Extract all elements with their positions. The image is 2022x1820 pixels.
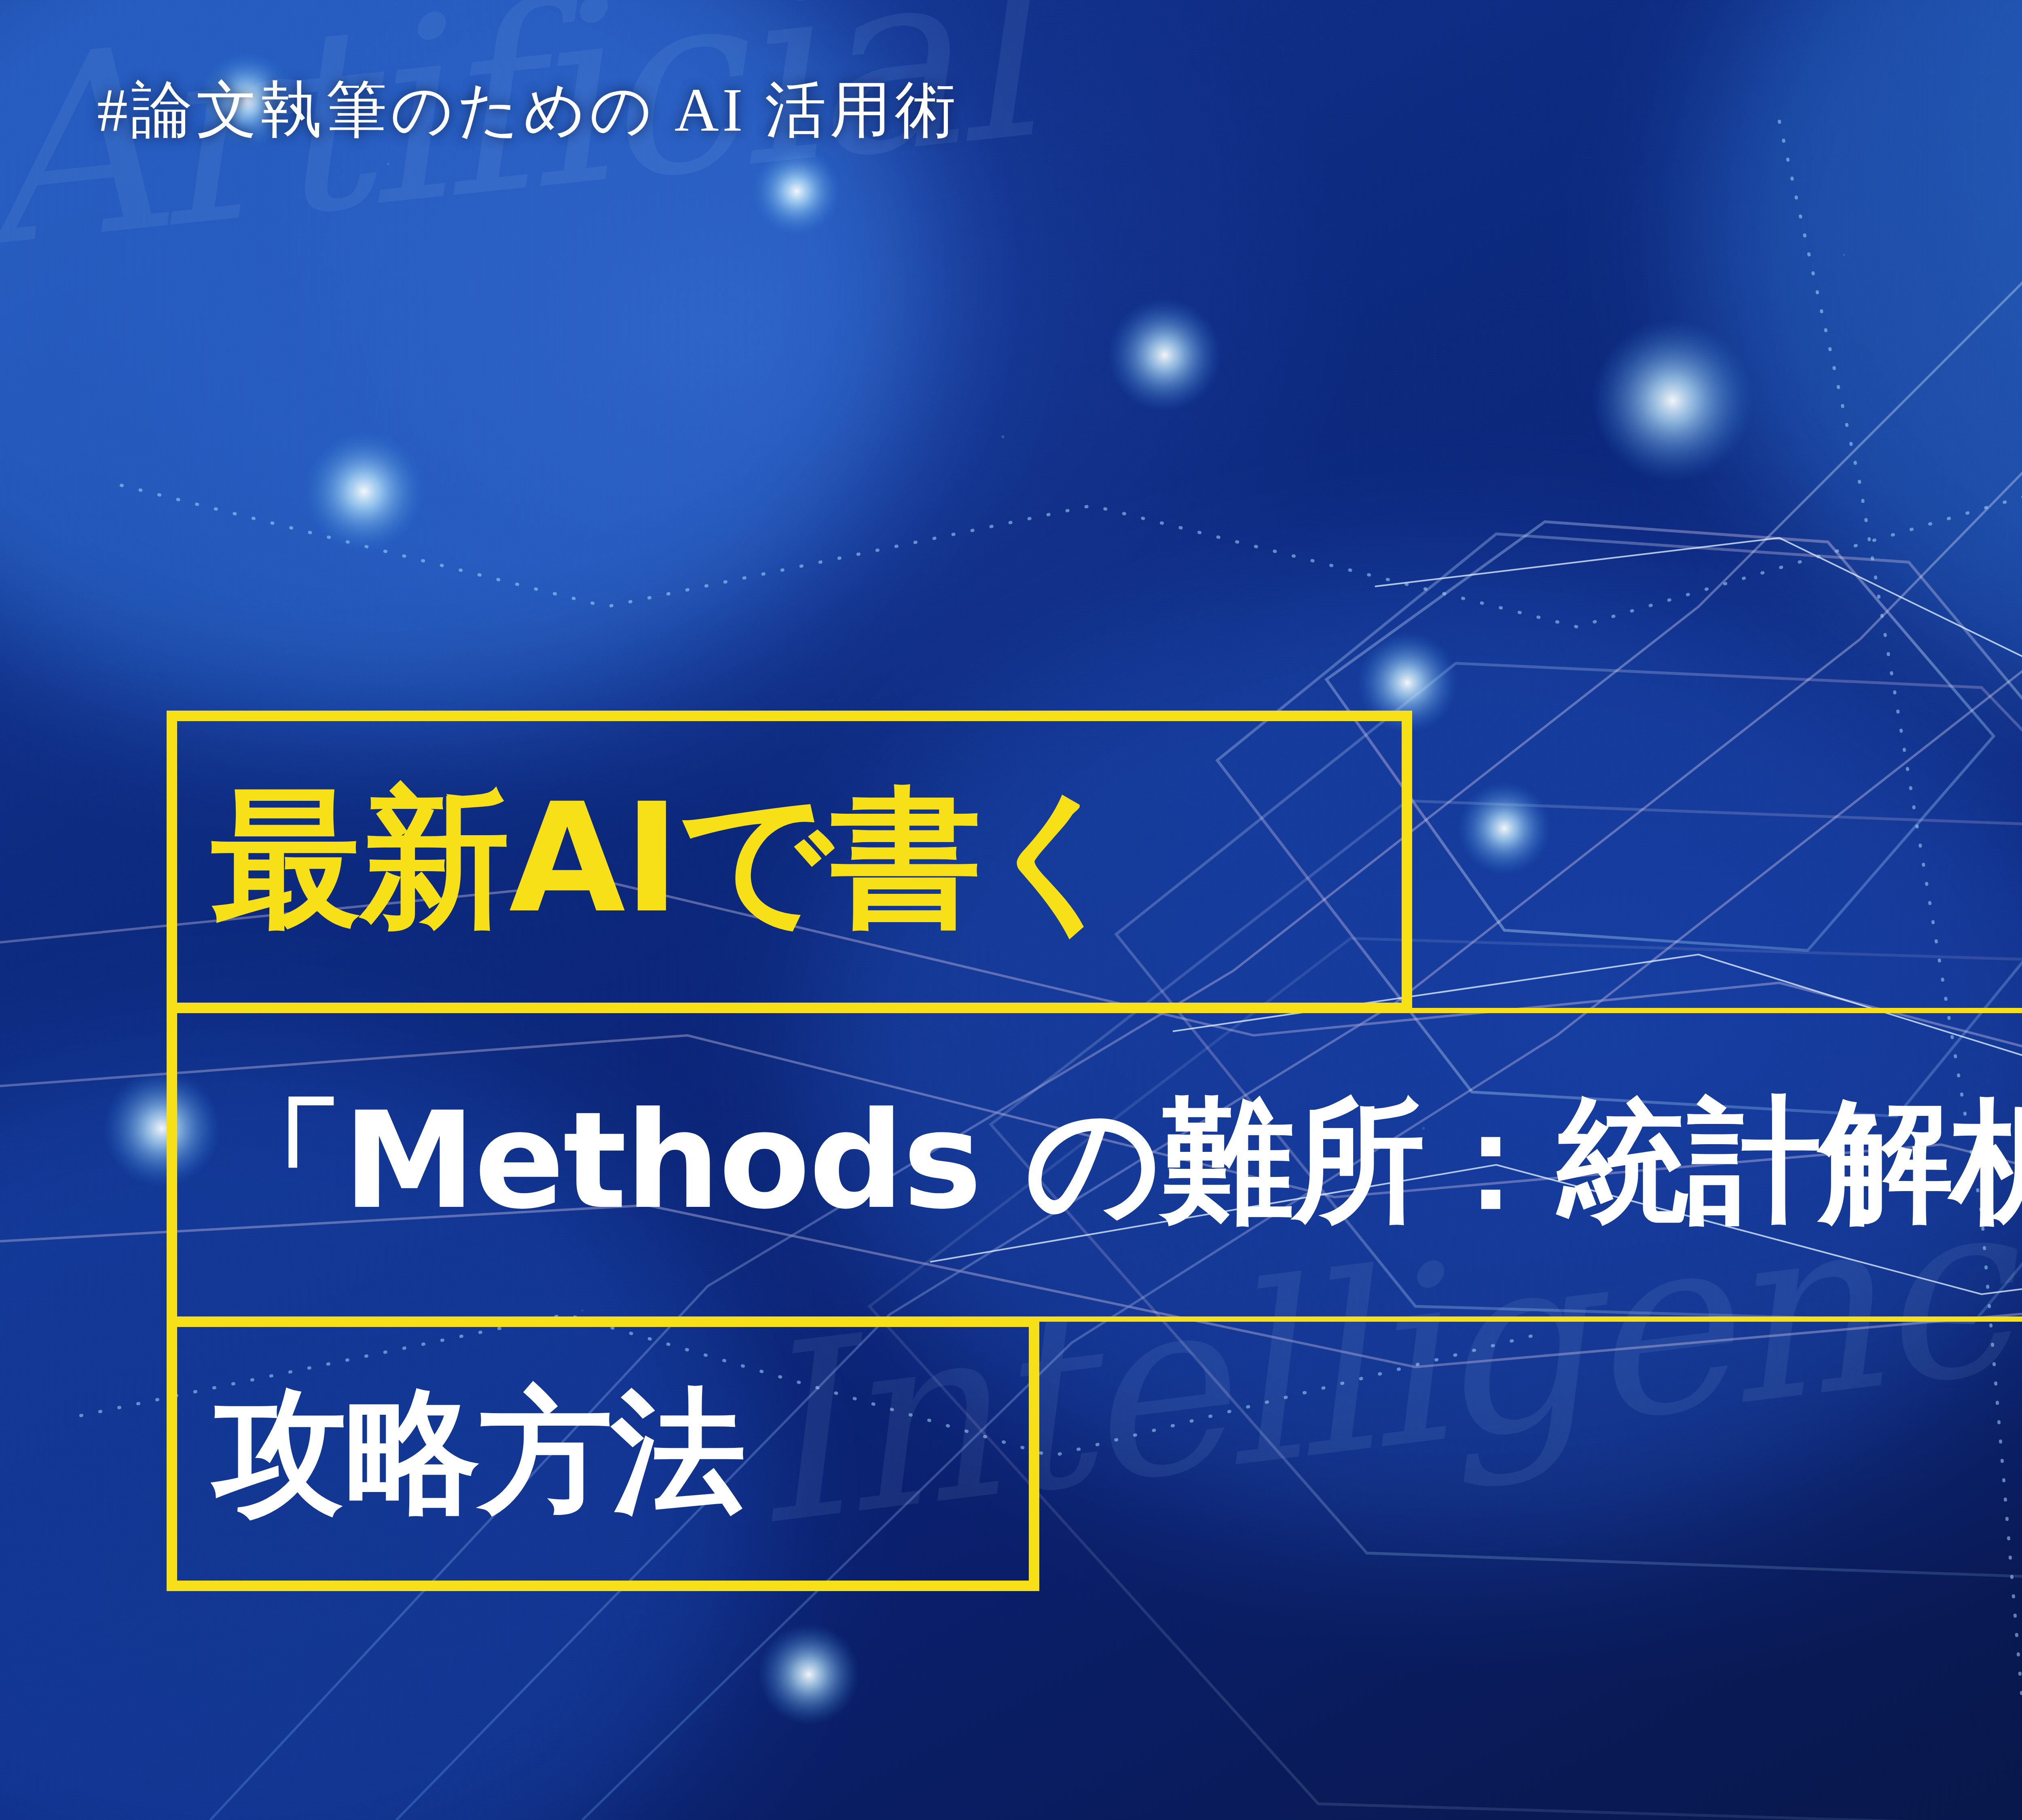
title-line-3-box: 攻略方法 <box>167 1322 1039 1591</box>
title-line-1: 最新AIで書く <box>211 783 1132 934</box>
title-block: 最新AIで書く 「Methods の難所：統計解析パート」 攻略方法 <box>167 711 2022 1591</box>
title-line-1-box: 最新AIで書く <box>167 711 1412 1008</box>
title-line-3: 攻略方法 <box>213 1384 745 1519</box>
title-line-2: 「Methods の難所：統計解析パート」 <box>211 1094 2022 1227</box>
title-line-2-box: 「Methods の難所：統計解析パート」 <box>167 1008 2022 1322</box>
category-tag: #論文執筆のための AI 活用術 <box>97 79 959 141</box>
thumbnail-canvas: Artificial Intelligence #論文執筆のための AI 活用術… <box>0 0 2022 1820</box>
